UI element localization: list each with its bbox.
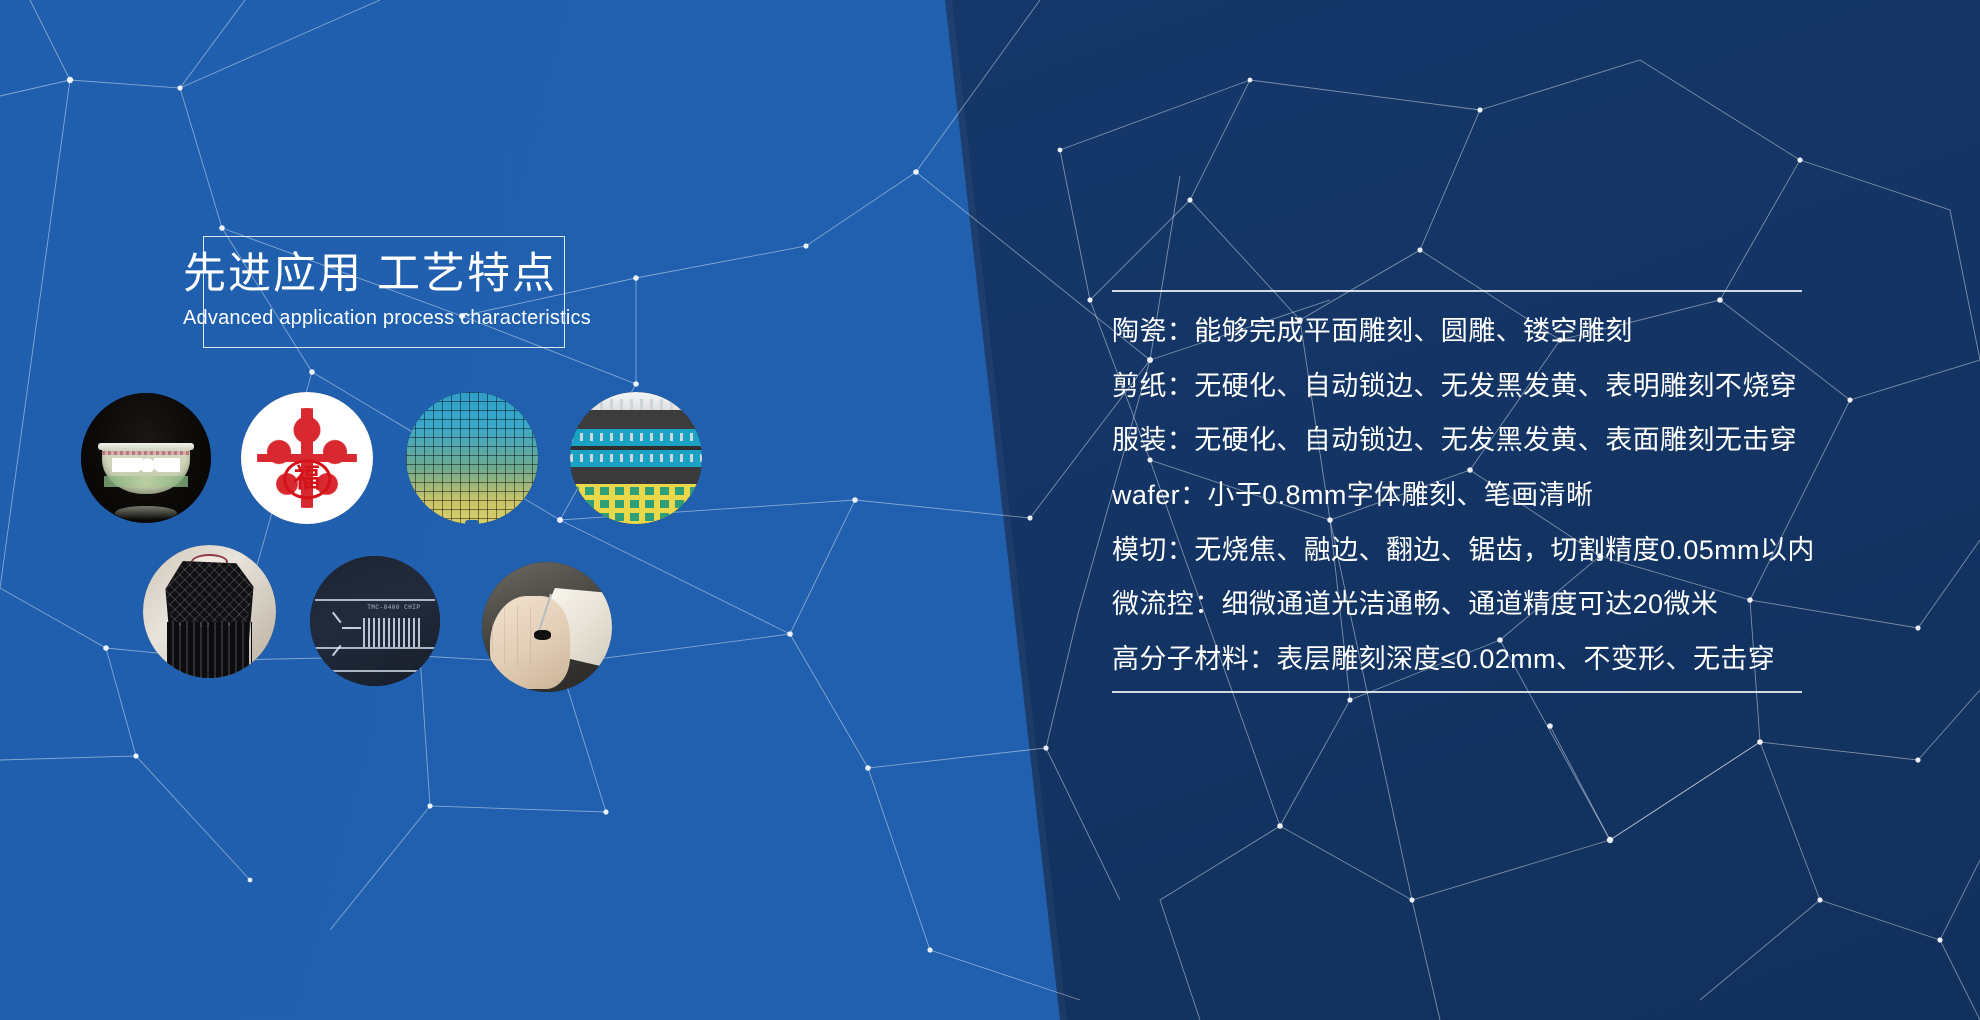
- spec-list: 陶瓷：能够完成平面雕刻、圆雕、镂空雕刻 剪纸：无硬化、自动锁边、无发黑发黄、表明…: [1112, 292, 1882, 691]
- spec-line-garment: 服装：无硬化、自动锁边、无发黑发黄、表面雕刻无击穿: [1112, 423, 1882, 459]
- spec-line-ceramic: 陶瓷：能够完成平面雕刻、圆雕、镂空雕刻: [1112, 314, 1882, 350]
- chip-rail-bottom: [315, 670, 435, 672]
- chip-dot-row-2: [570, 454, 702, 462]
- chip-dark-layer-2: [570, 467, 702, 484]
- page-title-cn: 先进应用 工艺特点: [183, 246, 603, 302]
- spec-line-wafer: wafer：小于0.8mm字体雕刻、笔画清晰: [1112, 478, 1882, 514]
- chip-serpentine-channel: [363, 618, 422, 647]
- sample-component: [534, 630, 551, 640]
- garment-fringe: [167, 622, 252, 678]
- wafer-notch: [465, 520, 478, 524]
- bowl-rim: [98, 443, 194, 450]
- microfluidic-chip-thumbnail[interactable]: TMC-0400 CHIP: [310, 556, 440, 686]
- papercut-scallop-ring: [245, 396, 369, 520]
- bowl-carved-motif: [112, 458, 180, 472]
- spec-line-polymer: 高分子材料：表层雕刻深度≤0.02mm、不变形、无击穿: [1112, 642, 1882, 678]
- page-title-en: Advanced application process characteris…: [183, 304, 603, 332]
- spec-line-diecut: 模切：无烧焦、融边、翻边、锯齿，切割精度0.05mm以内: [1112, 533, 1882, 569]
- chip-rail-top: [315, 599, 435, 601]
- banner-stage: 先进应用 工艺特点 Advanced application process c…: [0, 0, 1980, 1020]
- chip-dot-row-1: [570, 433, 702, 441]
- spec-line-microfluidic: 微流控：细微通道光洁通畅、通道精度可达20微米: [1112, 587, 1882, 623]
- silicon-wafer-thumbnail[interactable]: [406, 392, 538, 524]
- page-title: 先进应用 工艺特点 Advanced application process c…: [183, 246, 603, 332]
- spec-panel: 陶瓷：能够完成平面雕刻、圆雕、镂空雕刻 剪纸：无硬化、自动锁边、无发黑发黄、表明…: [1112, 290, 1882, 693]
- chip-rail-middle: [315, 647, 435, 649]
- papercut-fu-thumbnail[interactable]: 福: [241, 392, 373, 524]
- chip-label: TMC-0400 CHIP: [367, 604, 420, 611]
- chip-dark-layer-1: [570, 410, 702, 428]
- layered-chip-thumbnail[interactable]: [570, 392, 702, 524]
- fu-character: 福: [283, 459, 331, 499]
- chip-green-cells: [570, 487, 702, 521]
- laser-cut-garment-thumbnail[interactable]: [143, 545, 276, 678]
- gloved-hand-film-thumbnail[interactable]: [482, 562, 612, 692]
- chip-y-junction: [332, 613, 361, 642]
- spec-rule-bottom: [1112, 691, 1802, 693]
- garment-perforation-pattern: [162, 561, 258, 628]
- wafer-die-grid: [406, 392, 538, 524]
- bowl-lower-band: [104, 476, 187, 486]
- ceramic-bowl-thumbnail[interactable]: [81, 393, 211, 523]
- bowl-reflection: [115, 506, 177, 520]
- bowl-upper-band: [102, 451, 190, 456]
- spec-line-papercut: 剪纸：无硬化、自动锁边、无发黑发黄、表明雕刻不烧穿: [1112, 369, 1882, 405]
